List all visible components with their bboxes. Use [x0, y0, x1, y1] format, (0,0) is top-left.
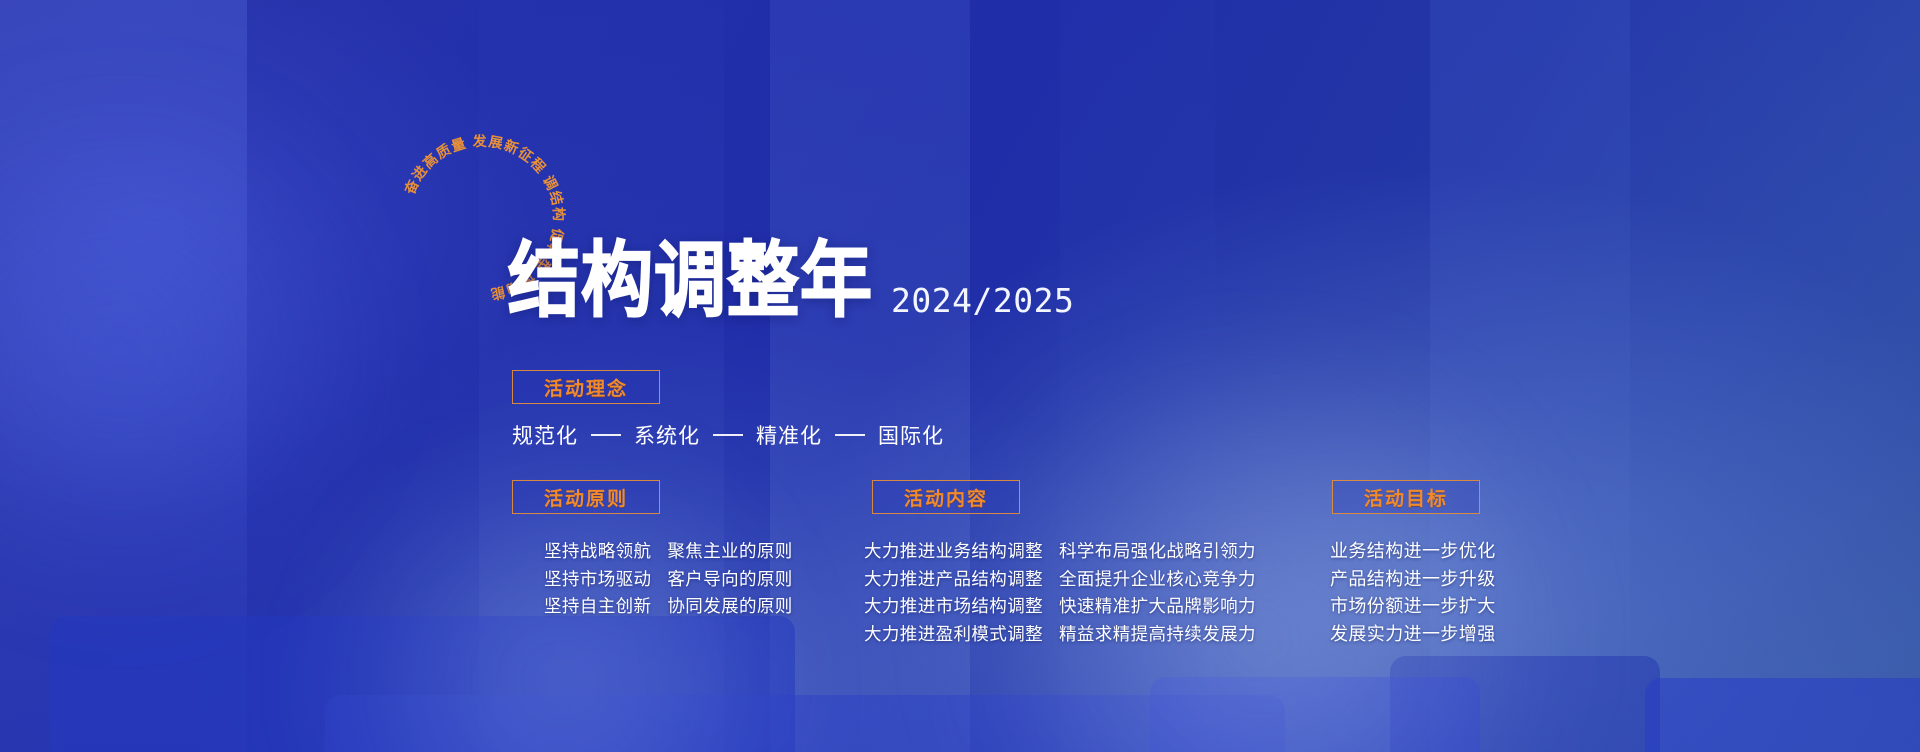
goals-list: 业务结构进一步优化 产品结构进一步升级 市场份额进一步扩大 发展实力进一步增强: [1330, 538, 1496, 648]
goals-row-1: 业务结构进一步优化: [1330, 538, 1496, 566]
goals-row-2: 产品结构进一步升级: [1330, 566, 1496, 594]
badge-concept: 活动理念: [512, 370, 660, 404]
concept-separator-1: [591, 434, 621, 436]
badge-concept-label: 活动理念: [544, 374, 628, 401]
concept-item-3: 精准化: [756, 420, 822, 450]
list-item: 坚持自主创新 协同发展的原则: [544, 593, 793, 621]
principle-row-1-left: 坚持战略领航: [544, 538, 651, 566]
contents-row-3-right: 快速精准扩大品牌影响力: [1059, 593, 1256, 621]
list-item: 产品结构进一步升级: [1330, 566, 1496, 594]
badge-principle-label: 活动原则: [544, 484, 628, 511]
principle-row-2-left: 坚持市场驱动: [544, 566, 651, 594]
list-item: 大力推进市场结构调整 快速精准扩大品牌影响力: [864, 593, 1256, 621]
contents-row-1-left: 大力推进业务结构调整: [864, 538, 1043, 566]
badge-contents-label: 活动内容: [904, 484, 988, 511]
contents-row-1-right: 科学布局强化战略引领力: [1059, 538, 1256, 566]
concept-item-list: 规范化 系统化 精准化 国际化: [512, 420, 944, 450]
contents-row-2-right: 全面提升企业核心竞争力: [1059, 566, 1256, 594]
contents-row-3-left: 大力推进市场结构调整: [864, 593, 1043, 621]
list-item: 大力推进盈利模式调整 精益求精提高持续发展力: [864, 621, 1256, 649]
contents-row-2-left: 大力推进产品结构调整: [864, 566, 1043, 594]
list-item: 发展实力进一步增强: [1330, 621, 1496, 649]
principle-row-3-right: 协同发展的原则: [667, 593, 792, 621]
list-item: 坚持战略领航 聚焦主业的原则: [544, 538, 793, 566]
goals-row-3: 市场份额进一步扩大: [1330, 593, 1496, 621]
contents-list: 大力推进业务结构调整 科学布局强化战略引领力 大力推进产品结构调整 全面提升企业…: [864, 538, 1256, 648]
badge-goals-label: 活动目标: [1364, 484, 1448, 511]
list-item: 大力推进业务结构调整 科学布局强化战略引领力: [864, 538, 1256, 566]
principle-list: 坚持战略领航 聚焦主业的原则 坚持市场驱动 客户导向的原则 坚持自主创新 协同发…: [544, 538, 793, 621]
goals-row-4: 发展实力进一步增强: [1330, 621, 1496, 649]
concept-item-4: 国际化: [878, 420, 944, 450]
badge-principle: 活动原则: [512, 480, 660, 514]
concept-separator-2: [713, 434, 743, 436]
list-item: 大力推进产品结构调整 全面提升企业核心竞争力: [864, 566, 1256, 594]
principle-row-1-right: 聚焦主业的原则: [667, 538, 792, 566]
list-item: 市场份额进一步扩大: [1330, 593, 1496, 621]
year-range-label: 2024/2025: [891, 284, 1074, 317]
list-item: 坚持市场驱动 客户导向的原则: [544, 566, 793, 594]
title-row: 结构调整年 2024/2025: [508, 249, 1074, 321]
page-title: 结构调整年: [508, 239, 873, 321]
concept-separator-3: [835, 434, 865, 436]
principle-row-3-left: 坚持自主创新: [544, 593, 651, 621]
concept-item-1: 规范化: [512, 420, 578, 450]
contents-row-4-right: 精益求精提高持续发展力: [1059, 621, 1256, 649]
concept-item-2: 系统化: [634, 420, 700, 450]
list-item: 业务结构进一步优化: [1330, 538, 1496, 566]
badge-contents: 活动内容: [872, 480, 1020, 514]
badge-goals: 活动目标: [1332, 480, 1480, 514]
contents-row-4-left: 大力推进盈利模式调整: [864, 621, 1043, 649]
principle-row-2-right: 客户导向的原则: [667, 566, 792, 594]
